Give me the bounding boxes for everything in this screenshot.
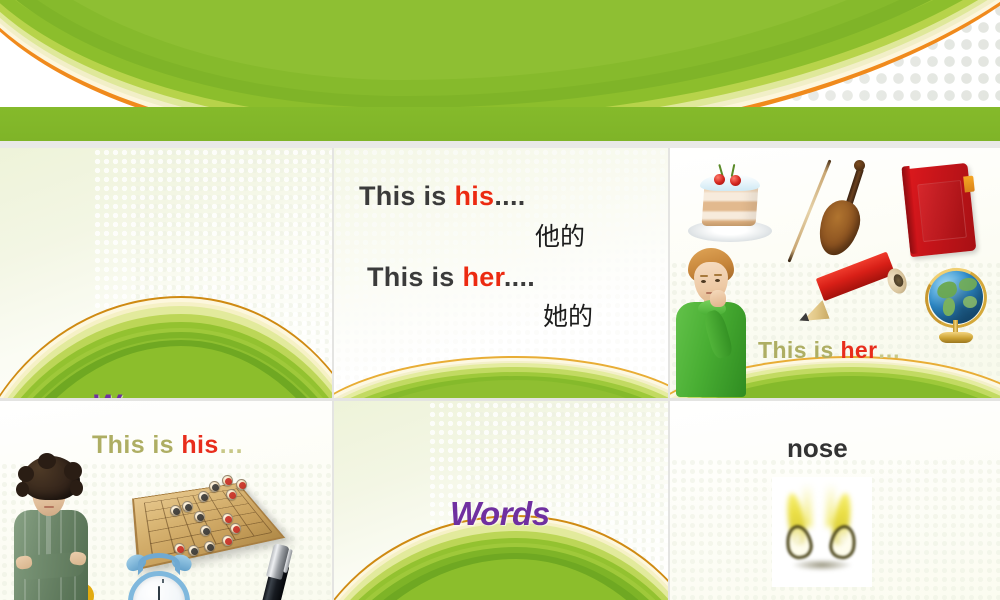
alarm-clock-image <box>122 553 200 600</box>
globe-image <box>919 264 997 350</box>
book-bookmark-tab <box>963 176 975 193</box>
chess-piece <box>236 479 247 490</box>
chess-piece <box>204 541 215 552</box>
line-suffix: .... <box>494 181 525 211</box>
phrase-this-is-her: This is her… <box>758 337 901 364</box>
header-banner <box>0 0 1000 141</box>
boy-mouth <box>44 506 54 508</box>
vocabulary-word-nose: nose <box>787 433 848 464</box>
black-pen-image <box>262 541 322 600</box>
cake-slice-image <box>686 164 778 246</box>
red-book-image <box>902 162 988 262</box>
hair-curl <box>38 453 56 469</box>
globe-base <box>939 332 973 343</box>
slide-title-words: Words <box>450 495 550 533</box>
slide-background <box>0 148 332 398</box>
slide-thumbnail-nose[interactable]: nose <box>670 401 1000 600</box>
boy-eye-right <box>715 279 720 282</box>
boy-eye-left <box>701 280 706 283</box>
slide-thumbnail-warm-up[interactable]: Warm-up <box>0 148 332 398</box>
boy-hand-on-chin <box>710 290 726 307</box>
nose-illustration-image <box>772 477 872 587</box>
clock-face <box>128 571 190 600</box>
banner-base-bar <box>0 107 1000 141</box>
line-this-is-her: This is her.... <box>367 262 535 293</box>
hair-curl <box>70 480 83 496</box>
cherry-left <box>714 174 725 185</box>
violin-image <box>802 154 882 264</box>
slide-thumbnail-this-is-his-objects[interactable]: This is his… <box>0 401 332 600</box>
nose-shadow <box>792 559 852 571</box>
phrase-highlight-his: his <box>181 431 218 459</box>
chess-piece <box>170 505 181 516</box>
line-suffix: .... <box>504 262 535 292</box>
line-this-is-his: This is his.... <box>359 181 526 212</box>
boy-eyebrow-left <box>700 275 708 277</box>
chess-piece <box>230 523 241 534</box>
shirt-button-placket <box>46 514 51 558</box>
chess-piece <box>182 501 193 512</box>
chess-piece <box>222 475 233 486</box>
boy-curly-hair-image <box>14 456 92 564</box>
phrase-this-is-his: This is his… <box>92 431 244 460</box>
slide-title-warm-up: Warm-up <box>92 389 218 398</box>
slide-thumbnail-words[interactable]: Words <box>334 401 668 600</box>
chess-piece <box>209 481 220 492</box>
line-prefix: This is <box>367 262 462 292</box>
slide-grid: Warm-up This is his.... 他的 <box>0 148 1000 600</box>
chess-piece <box>198 491 209 502</box>
line-prefix: This is <box>359 181 454 211</box>
highlight-his: his <box>454 181 494 211</box>
hair-curl <box>64 462 82 480</box>
cherry-right <box>730 175 741 186</box>
slide-thumbnail-grid-page: Warm-up This is his.... 他的 <box>0 0 1000 600</box>
chess-piece <box>194 511 205 522</box>
line-chinese-her: 她的 <box>543 297 593 333</box>
slide-thumbnail-this-is-her-objects[interactable]: This is her… <box>670 148 1000 398</box>
phrase-suffix: … <box>877 337 900 363</box>
hair-curl <box>16 482 29 497</box>
line-chinese-his: 他的 <box>535 217 585 253</box>
highlight-her: her <box>462 262 503 292</box>
phrase-suffix: … <box>219 431 244 459</box>
phrase-highlight-her: her <box>840 337 877 363</box>
nose-drawing <box>772 477 872 587</box>
book-front-panel <box>917 180 967 242</box>
chess-piece <box>226 489 237 500</box>
phrase-prefix: This is <box>92 431 181 459</box>
boy-eyebrow-right <box>714 274 722 276</box>
slide-thumbnail-his-her-bilingual[interactable]: This is his.... 他的 This is her.... 她的 <box>334 148 668 398</box>
red-pencil-image <box>804 260 914 334</box>
chess-piece <box>200 525 211 536</box>
hair-curl <box>18 466 34 482</box>
clock-tick <box>162 579 164 583</box>
phrase-prefix: This is <box>758 337 840 363</box>
chess-piece <box>222 513 233 524</box>
chess-piece <box>222 535 233 546</box>
boy-green-turtleneck-image <box>674 248 750 398</box>
violin-scroll <box>854 160 865 171</box>
nostril-left <box>783 523 815 561</box>
clock-minute-hand <box>158 586 160 600</box>
